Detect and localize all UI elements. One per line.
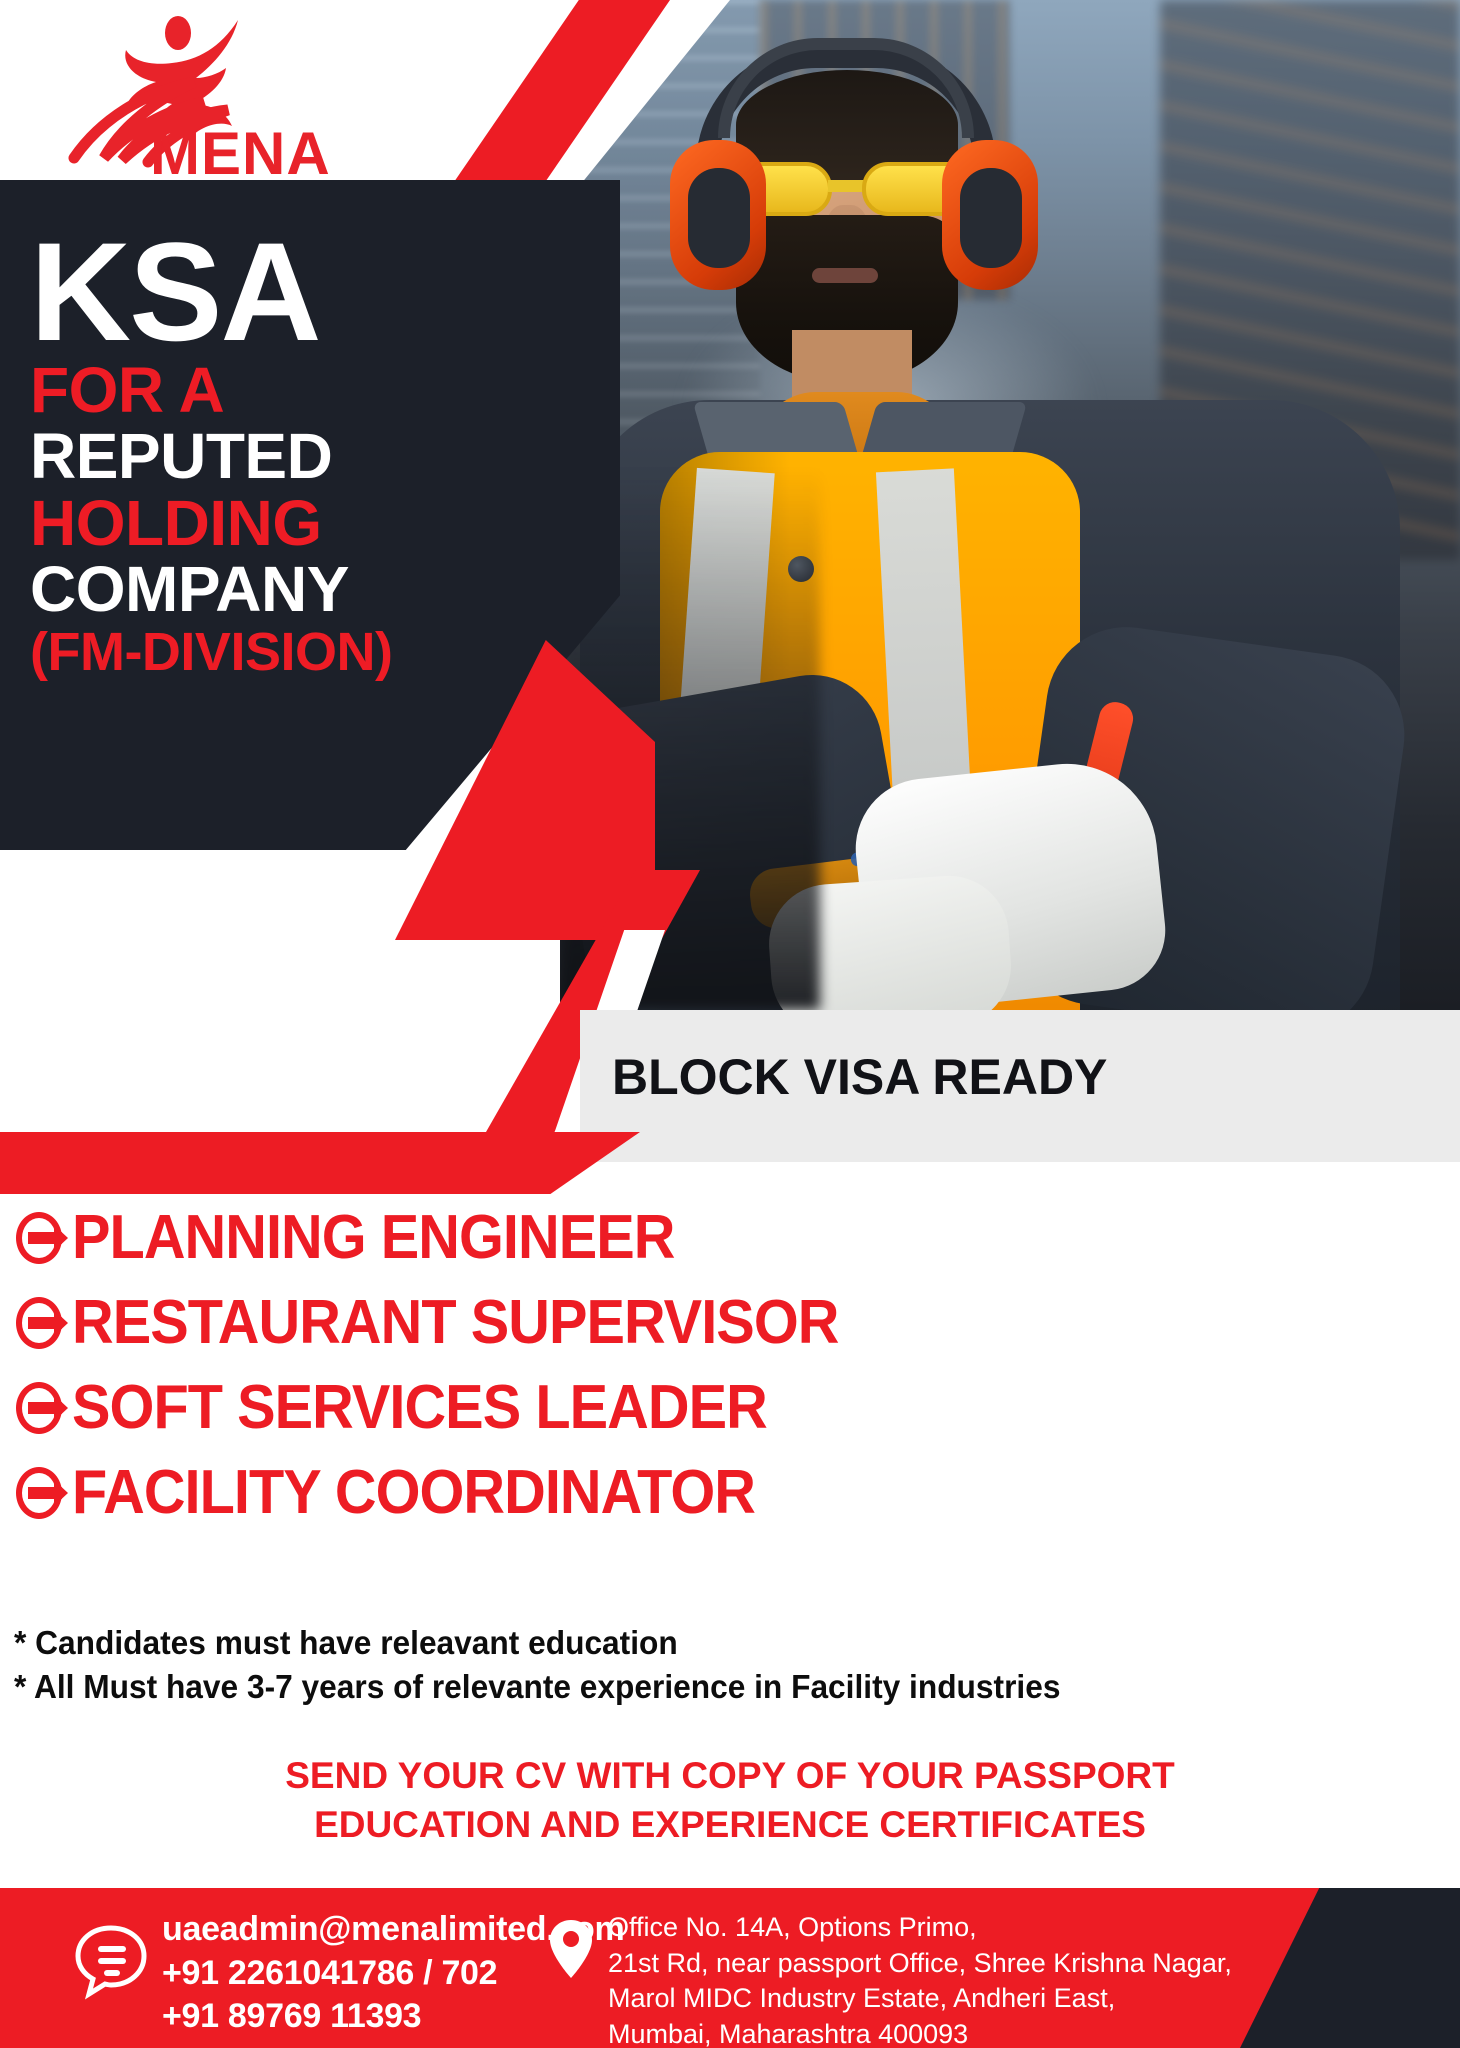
cv-line-1: SEND YOUR CV WITH COPY OF YOUR PASSPORT [0, 1752, 1460, 1801]
job-row: FACILITY COORDINATOR [8, 1450, 1448, 1535]
headline-text: KSA FOR A REPUTED HOLDING COMPANY (FM-DI… [30, 228, 570, 682]
job-row: SOFT SERVICES LEADER [8, 1365, 1448, 1450]
worker-photo [560, 0, 1460, 1010]
job-title: FACILITY COORDINATOR [72, 1457, 755, 1528]
red-divider-bar [0, 1132, 640, 1194]
earmuff-pad-right [960, 168, 1022, 268]
requirements-list: * Candidates must have releavant educati… [14, 1621, 1444, 1709]
office-address: Office No. 14A, Options Primo, 21st Rd, … [608, 1910, 1168, 2048]
running-figure-icon: MENA [60, 8, 360, 183]
cv-instructions: SEND YOUR CV WITH COPY OF YOUR PASSPORT … [0, 1752, 1460, 1850]
requirement-item: * Candidates must have releavant educati… [14, 1621, 1387, 1665]
map-pin-icon [548, 1918, 594, 1980]
job-title: PLANNING ENGINEER [72, 1202, 674, 1273]
footer-dark-notch [1240, 1888, 1460, 2048]
circle-arrow-right-icon [8, 1462, 70, 1524]
cv-line-2: EDUCATION AND EXPERIENCE CERTIFICATES [0, 1801, 1460, 1850]
worker-mouth [812, 268, 878, 283]
block-visa-label: BLOCK VISA READY [612, 1048, 1107, 1106]
contact-footer: uaeadmin@menalimited.com +91 2261041786 … [0, 1888, 1460, 2048]
address-line: Office No. 14A, Options Primo, [608, 1910, 1168, 1946]
job-title: RESTAURANT SUPERVISOR [72, 1287, 838, 1358]
job-list: PLANNING ENGINEER RESTAURANT SUPERVISOR … [8, 1195, 1448, 1535]
recruitment-poster: KSA FOR A REPUTED HOLDING COMPANY (FM-DI… [0, 0, 1460, 2048]
job-row: PLANNING ENGINEER [8, 1195, 1448, 1280]
circle-arrow-right-icon [8, 1377, 70, 1439]
job-title: SOFT SERVICES LEADER [72, 1372, 767, 1443]
headline-line-3: HOLDING [30, 490, 570, 557]
circle-arrow-right-icon [8, 1292, 70, 1354]
headline-line-4: COMPANY [30, 556, 570, 623]
mena-logo: MENA [60, 8, 360, 183]
address-line: Marol MIDC Industry Estate, Andheri East… [608, 1981, 1168, 2017]
circle-arrow-right-icon [8, 1207, 70, 1269]
headline-country: KSA [30, 228, 570, 357]
address-line: Mumbai, Maharashtra 400093 [608, 2017, 1168, 2048]
requirement-item: * All Must have 3-7 years of relevante e… [14, 1665, 1387, 1709]
headline-division: (FM-DIVISION) [30, 623, 570, 682]
headline-line-2: REPUTED [30, 423, 570, 490]
block-visa-band: BLOCK VISA READY [580, 1010, 1460, 1162]
chat-bubble-icon [72, 1922, 150, 2000]
earmuff-pad-left [688, 168, 750, 268]
address-line: 21st Rd, near passport Office, Shree Kri… [608, 1946, 1168, 1982]
svg-text:MENA: MENA [150, 120, 331, 183]
job-row: RESTAURANT SUPERVISOR [8, 1280, 1448, 1365]
contact-phone-2[interactable]: +91 89769 11393 [162, 1995, 624, 2039]
